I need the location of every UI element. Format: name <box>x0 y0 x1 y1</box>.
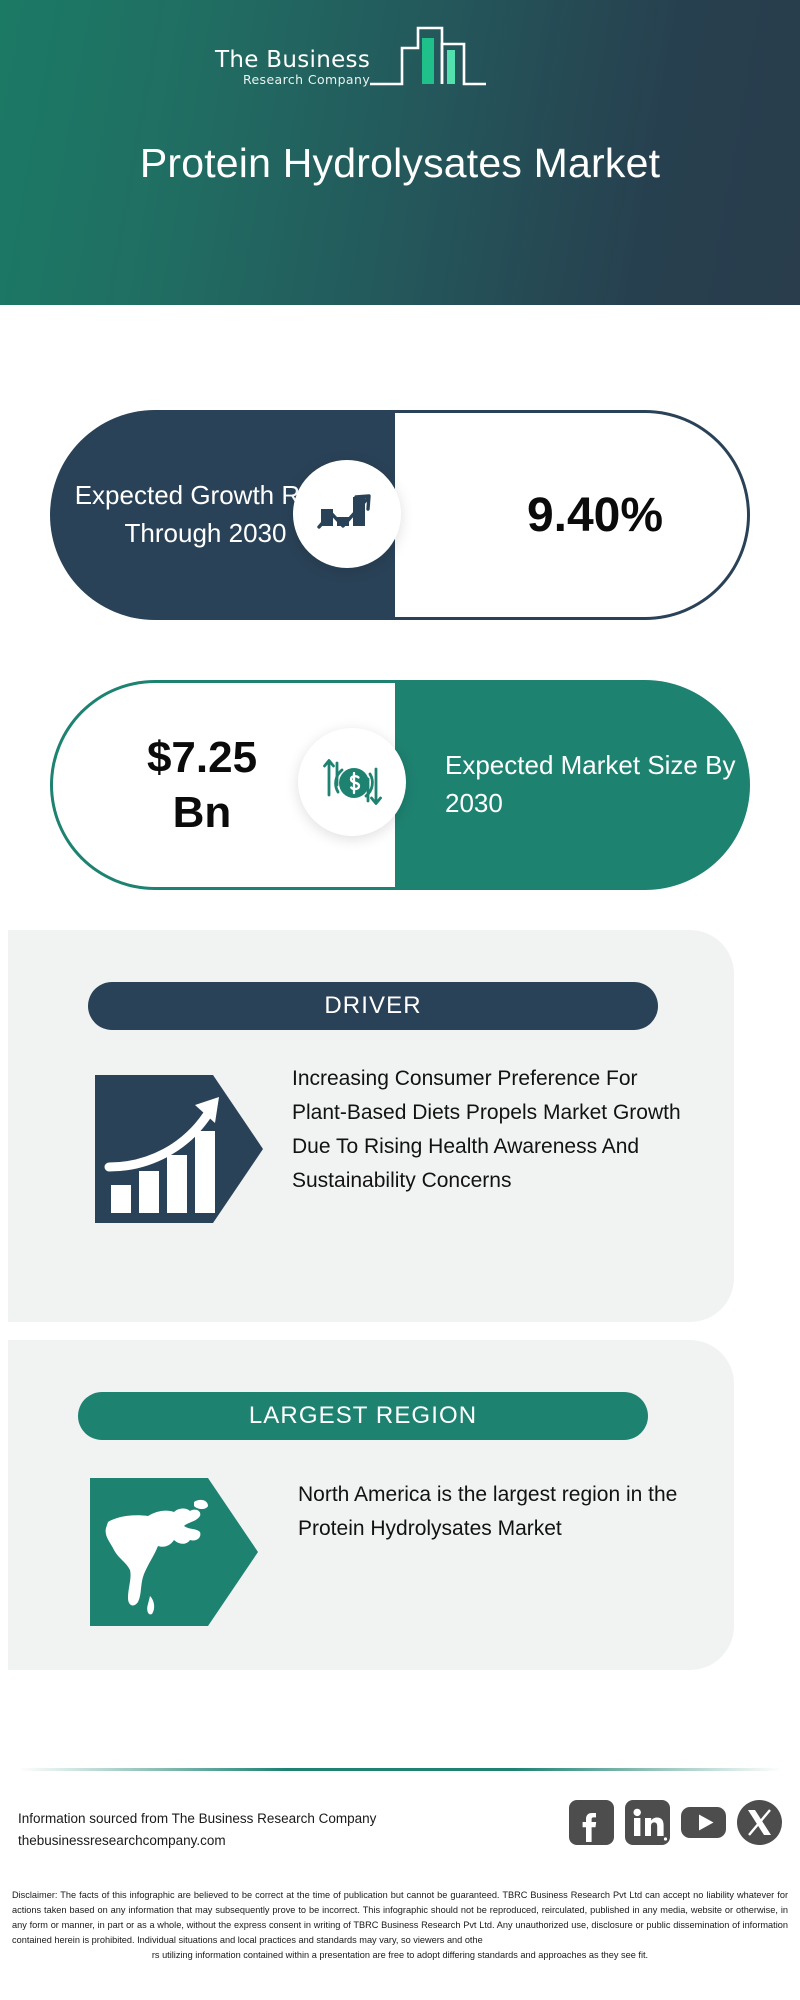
market-size-value-line-1: $7.25 <box>147 730 257 785</box>
largest-region-body-text: North America is the largest region in t… <box>298 1478 693 1546</box>
growth-rate-icon-badge <box>293 460 401 568</box>
infographic-page: The Business Research Company Protein Hy… <box>0 0 800 2000</box>
largest-region-heading: LARGEST REGION <box>78 1392 648 1440</box>
market-size-label-panel: Expected Market Size By 2030 <box>395 680 750 890</box>
linkedin-icon[interactable] <box>625 1800 670 1845</box>
facebook-icon[interactable] <box>569 1800 614 1845</box>
youtube-icon[interactable] <box>681 1800 726 1845</box>
x-twitter-icon[interactable] <box>737 1800 782 1845</box>
source-credit: Information sourced from The Business Re… <box>18 1808 376 1852</box>
source-credit-line-1: Information sourced from The Business Re… <box>18 1808 376 1830</box>
market-size-label: Expected Market Size By 2030 <box>395 747 750 822</box>
growth-rate-value-panel: 9.40% <box>395 410 750 620</box>
market-size-icon-badge <box>298 728 406 836</box>
footer-divider <box>18 1768 782 1771</box>
market-size-value: $7.25 Bn <box>147 730 301 840</box>
bar-chart-logo-icon <box>368 22 488 92</box>
social-links <box>569 1800 782 1845</box>
market-size-value-line-2: Bn <box>147 785 257 840</box>
growth-rate-value: 9.40% <box>479 488 663 543</box>
driver-heading: DRIVER <box>88 982 658 1030</box>
logo-line-2: Research Company <box>215 72 370 88</box>
source-website-url[interactable]: thebusinessresearchcompany.com <box>18 1830 376 1852</box>
growth-chart-arrow-icon <box>315 485 379 543</box>
disclaimer-main: Disclaimer: The facts of this infographi… <box>12 1890 788 1945</box>
ascending-bars-arrow-icon <box>95 1075 265 1223</box>
dollar-exchange-icon <box>317 747 387 817</box>
company-logo: The Business Research Company <box>215 22 488 92</box>
disclaimer-text: Disclaimer: The facts of this infographi… <box>12 1888 788 1963</box>
disclaimer-tail: rs utilizing information contained withi… <box>12 1948 788 1963</box>
north-america-map-icon <box>90 1478 260 1626</box>
logo-text: The Business Research Company <box>215 48 370 92</box>
driver-body-text: Increasing Consumer Preference For Plant… <box>292 1062 692 1198</box>
logo-line-1: The Business <box>215 48 370 72</box>
header-banner: The Business Research Company Protein Hy… <box>0 0 800 305</box>
page-title: Protein Hydrolysates Market <box>0 140 800 187</box>
